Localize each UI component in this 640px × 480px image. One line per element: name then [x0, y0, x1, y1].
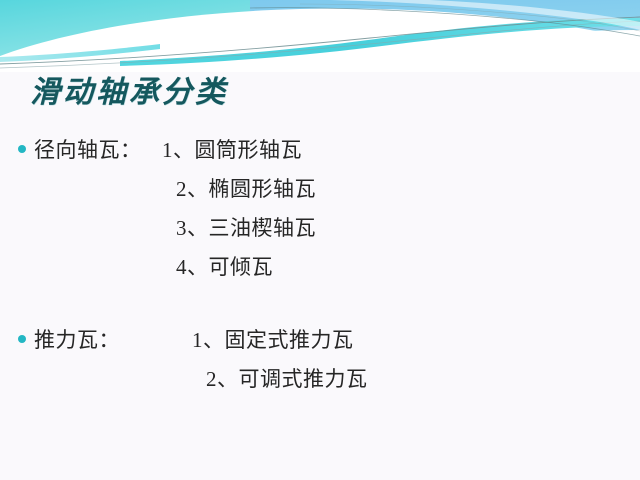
list-item: 2、可调式推力瓦	[0, 363, 640, 402]
header-wave-banner	[0, 0, 640, 72]
bullet-cell	[0, 149, 26, 157]
list-item: 推力瓦： 1、固定式推力瓦	[0, 324, 640, 363]
content-block-thrust: 推力瓦： 1、固定式推力瓦 2、可调式推力瓦	[0, 324, 640, 402]
list-subitem: 1、固定式推力瓦	[156, 324, 354, 354]
list-item: 径向轴瓦： 1、圆筒形轴瓦	[0, 134, 640, 173]
list-item: 3、三油楔轴瓦	[0, 212, 640, 251]
wave-graphic	[0, 0, 640, 72]
bullet-dot-icon	[18, 145, 26, 153]
content-body: 径向轴瓦： 1、圆筒形轴瓦 2、椭圆形轴瓦 3、三油楔轴瓦 4、可倾瓦	[0, 134, 640, 402]
slide: 滑动轴承分类 径向轴瓦： 1、圆筒形轴瓦 2、椭圆形轴瓦 3、三油楔轴瓦	[0, 0, 640, 480]
list-subitem: 1、圆筒形轴瓦	[156, 134, 302, 164]
page-title: 滑动轴承分类	[30, 78, 228, 108]
list-subitem: 4、可倾瓦	[156, 251, 273, 281]
list-subitem: 3、三油楔轴瓦	[156, 212, 316, 242]
content-block-radial: 径向轴瓦： 1、圆筒形轴瓦 2、椭圆形轴瓦 3、三油楔轴瓦 4、可倾瓦	[0, 134, 640, 290]
list-subitem: 2、椭圆形轴瓦	[156, 173, 316, 203]
list-item-lead: 推力瓦：	[26, 324, 156, 354]
list-subitem: 2、可调式推力瓦	[156, 363, 368, 393]
bullet-cell	[0, 339, 26, 347]
list-item-lead: 径向轴瓦：	[26, 134, 156, 164]
list-item: 4、可倾瓦	[0, 251, 640, 290]
bullet-dot-icon	[18, 335, 26, 343]
list-item: 2、椭圆形轴瓦	[0, 173, 640, 212]
